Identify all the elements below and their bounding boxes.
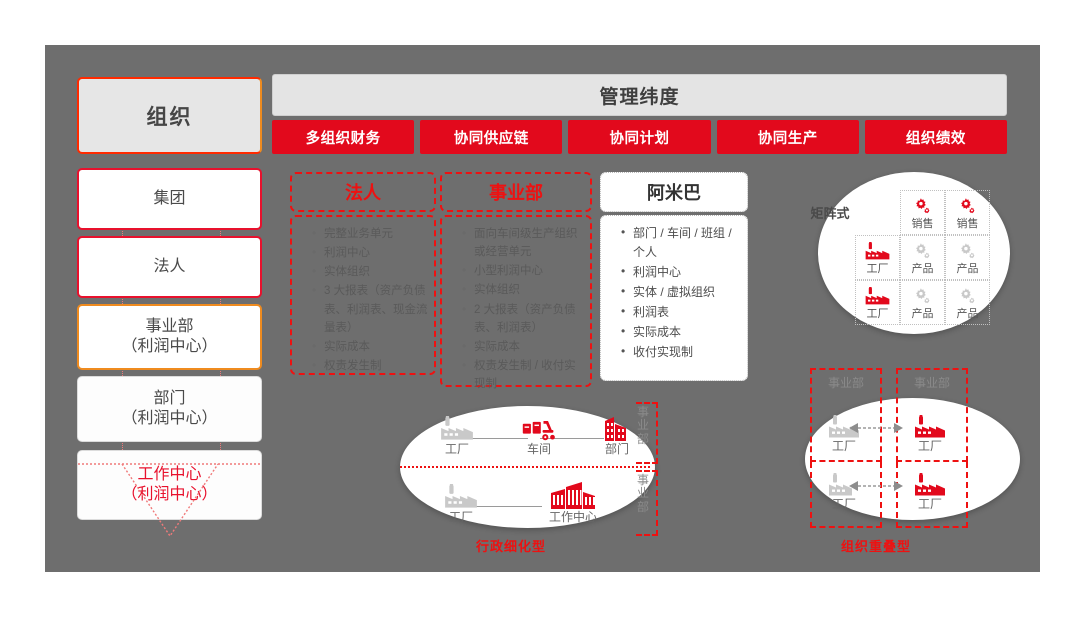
sidebar-converge-vee bbox=[70, 462, 270, 540]
matrix-cell-caption: 产品 bbox=[912, 264, 934, 275]
tab-collaborative-supply-chain[interactable]: 协同供应链 bbox=[420, 120, 562, 154]
sidebar-item-label-line1: 部门 bbox=[153, 389, 185, 409]
matrix-cell-product-2: 产品 bbox=[945, 235, 990, 280]
tab-label: 协同供应链 bbox=[454, 127, 529, 148]
tab-collaborative-planning[interactable]: 协同计划 bbox=[568, 120, 710, 154]
list-item: 利润表 bbox=[621, 303, 741, 322]
matrix-cell-caption: 工厂 bbox=[867, 309, 889, 320]
admin-node-factory-2: 工厂 bbox=[428, 480, 494, 524]
admin-node-department: 部门 bbox=[584, 412, 650, 456]
tab-label: 协同生产 bbox=[758, 127, 818, 148]
matrix-cell-caption: 产品 bbox=[957, 309, 979, 320]
matrix-cell-product-3: 产品 bbox=[900, 280, 945, 325]
admin-node-caption: 工厂 bbox=[428, 511, 494, 524]
sidebar-item-label: 集团 bbox=[153, 189, 185, 209]
gear-icon bbox=[913, 241, 932, 263]
sidebar-item-business-unit[interactable]: 事业部 （利润中心） bbox=[77, 304, 262, 370]
matrix-cell-caption: 销售 bbox=[912, 219, 934, 230]
admin-node-workshop: 车间 bbox=[506, 412, 572, 456]
factory-icon bbox=[900, 468, 960, 498]
list-item: 完整业务单元 bbox=[312, 225, 428, 243]
tab-label: 多组织财务 bbox=[306, 127, 381, 148]
matrix-cell-factory-2: 工厂 bbox=[855, 280, 900, 325]
overlap-arrow-1 bbox=[844, 420, 908, 436]
matrix-cell-product-4: 产品 bbox=[945, 280, 990, 325]
overlap-arrow-2 bbox=[844, 478, 908, 494]
admin-divider-line bbox=[400, 466, 650, 468]
org-overlap-label: 组织重叠型 bbox=[841, 536, 911, 555]
overlap-node-caption: 工厂 bbox=[900, 498, 960, 510]
gear-icon bbox=[958, 286, 977, 308]
list-item: 小型利润中心 bbox=[462, 262, 584, 280]
admin-node-work-center: 工作中心 bbox=[528, 480, 618, 524]
card-title: 事业部 bbox=[489, 179, 543, 205]
list-item: 权责发生制 bbox=[312, 357, 428, 375]
card-title: 法人 bbox=[345, 179, 381, 205]
forklift-icon bbox=[506, 412, 572, 442]
tab-org-performance[interactable]: 组织绩效 bbox=[865, 120, 1007, 154]
matrix-cell-caption: 产品 bbox=[957, 264, 979, 275]
gear-icon bbox=[913, 196, 932, 218]
overlap-node-caption: 工厂 bbox=[814, 498, 874, 510]
matrix-grid: 销售 销售 工厂 产品 产品 bbox=[855, 190, 990, 325]
factory-icon bbox=[424, 412, 490, 442]
list-item: 实体组织 bbox=[462, 281, 584, 299]
admin-node-factory-1: 工厂 bbox=[424, 412, 490, 456]
gear-icon bbox=[958, 241, 977, 263]
admin-node-caption: 工作中心 bbox=[528, 511, 618, 524]
gear-icon bbox=[958, 196, 977, 218]
list-item: 实体组织 bbox=[312, 263, 428, 281]
overlap-node-caption: 工厂 bbox=[900, 440, 960, 452]
overlap-node-factory-red-2: 工厂 bbox=[900, 468, 960, 510]
matrix-cell-caption: 销售 bbox=[957, 219, 979, 230]
admin-node-caption: 部门 bbox=[584, 443, 650, 456]
matrix-cell-caption: 产品 bbox=[912, 309, 934, 320]
factory-icon bbox=[864, 241, 891, 263]
admin-refinement-label: 行政细化型 bbox=[476, 536, 546, 555]
admin-refinement-group: 事业部 事业部 工厂 车间 部 bbox=[400, 398, 680, 538]
factory-icon bbox=[900, 410, 960, 440]
sidebar-item-label-line2: （利润中心） bbox=[121, 409, 217, 429]
tab-label: 协同计划 bbox=[610, 127, 670, 148]
sidebar-item-legal-entity[interactable]: 法人 bbox=[77, 236, 262, 298]
slide-canvas: 组织 集团 法人 事业部 （利润中心） 部门 （利润中心） 工作中心 （利润中心… bbox=[0, 0, 1080, 617]
overlap-node-caption: 工厂 bbox=[814, 440, 874, 452]
dimension-tab-bar: 多组织财务 协同供应链 协同计划 协同生产 组织绩效 bbox=[272, 120, 1007, 154]
card-body-legal-entity: 完整业务单元 利润中心 实体组织 3 大报表（资产负债表、利润表、现金流量表） … bbox=[290, 215, 436, 375]
card-header-legal-entity: 法人 bbox=[290, 172, 436, 212]
card-bullet-list: 面向车间级生产组织或经营单元 小型利润中心 实体组织 2 大报表（资产负债表、利… bbox=[446, 225, 584, 393]
card-header-business-unit: 事业部 bbox=[440, 172, 592, 212]
building-icon bbox=[584, 412, 650, 442]
overlap-column-header: 事业部 bbox=[898, 374, 966, 391]
sidebar-header-label: 组织 bbox=[147, 101, 193, 131]
card-bullet-list: 部门 / 车间 / 班组 / 个人 利润中心 实体 / 虚拟组织 利润表 实际成… bbox=[605, 224, 741, 362]
matrix-cell-factory-1: 工厂 bbox=[855, 235, 900, 280]
matrix-cell-sales-1: 销售 bbox=[900, 190, 945, 235]
sidebar-item-department[interactable]: 部门 （利润中心） bbox=[77, 376, 262, 442]
sidebar-item-label: 法人 bbox=[153, 257, 185, 277]
sidebar-header-organization[interactable]: 组织 bbox=[77, 77, 262, 154]
tab-collaborative-production[interactable]: 协同生产 bbox=[717, 120, 859, 154]
list-item: 3 大报表（资产负债表、利润表、现金流量表） bbox=[312, 282, 428, 336]
sidebar-item-label-line2: （利润中心） bbox=[121, 337, 217, 357]
list-item: 面向车间级生产组织或经营单元 bbox=[462, 225, 584, 261]
list-item: 实际成本 bbox=[462, 338, 584, 356]
tab-label: 组织绩效 bbox=[906, 127, 966, 148]
card-bullet-list: 完整业务单元 利润中心 实体组织 3 大报表（资产负债表、利润表、现金流量表） … bbox=[296, 225, 428, 375]
matrix-label: 矩阵式 bbox=[800, 203, 860, 222]
admin-node-caption: 工厂 bbox=[424, 443, 490, 456]
overlap-node-factory-red-1: 工厂 bbox=[900, 410, 960, 452]
gear-icon bbox=[913, 286, 932, 308]
factory-icon bbox=[428, 480, 494, 510]
list-item: 实体 / 虚拟组织 bbox=[621, 283, 741, 302]
overlap-column-header: 事业部 bbox=[812, 374, 880, 391]
list-item: 2 大报表（资产负债表、利润表） bbox=[462, 301, 584, 337]
matrix-cell-sales-2: 销售 bbox=[945, 190, 990, 235]
list-item: 利润中心 bbox=[312, 244, 428, 262]
sidebar-item-label-line1: 事业部 bbox=[145, 317, 193, 337]
matrix-cell-caption: 工厂 bbox=[867, 264, 889, 275]
tab-multi-org-finance[interactable]: 多组织财务 bbox=[272, 120, 414, 154]
matrix-cell-product-1: 产品 bbox=[900, 235, 945, 280]
admin-node-caption: 车间 bbox=[506, 443, 572, 456]
card-body-business-unit: 面向车间级生产组织或经营单元 小型利润中心 实体组织 2 大报表（资产负债表、利… bbox=[440, 215, 592, 387]
list-item: 收付实现制 bbox=[621, 343, 741, 362]
page-title: 管理纬度 bbox=[599, 82, 679, 109]
building-icon bbox=[528, 480, 618, 510]
list-item: 权责发生制 / 收付实现制 bbox=[462, 357, 584, 393]
list-item: 部门 / 车间 / 班组 / 个人 bbox=[621, 224, 741, 262]
card-title: 阿米巴 bbox=[647, 179, 701, 205]
list-item: 实际成本 bbox=[312, 338, 428, 356]
management-dimension-title: 管理纬度 bbox=[272, 74, 1007, 116]
card-body-amoeba: 部门 / 车间 / 班组 / 个人 利润中心 实体 / 虚拟组织 利润表 实际成… bbox=[600, 215, 748, 381]
list-item: 利润中心 bbox=[621, 263, 741, 282]
card-header-amoeba: 阿米巴 bbox=[600, 172, 748, 212]
org-overlap-group: 事业部 事业部 工厂 工厂 工厂 bbox=[800, 368, 1030, 528]
list-item: 实际成本 bbox=[621, 323, 741, 342]
factory-icon bbox=[864, 286, 891, 308]
matrix-cell-empty bbox=[855, 190, 900, 235]
admin-bracket-label-bottom: 事业部 bbox=[636, 474, 650, 514]
sidebar-item-group[interactable]: 集团 bbox=[77, 168, 262, 230]
